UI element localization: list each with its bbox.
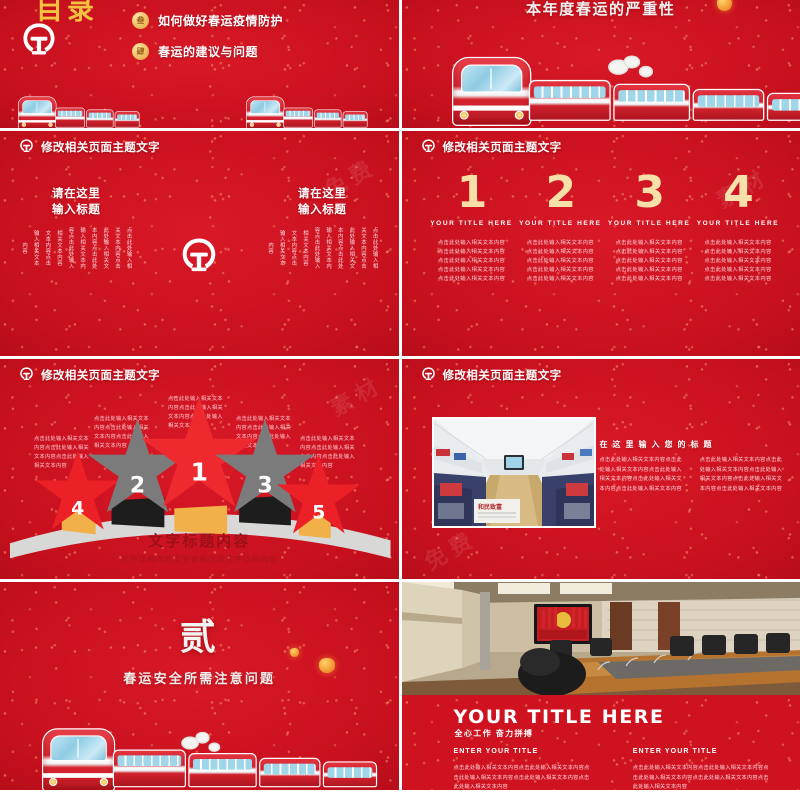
bg-speckles bbox=[402, 0, 800, 128]
vertical-text-column: 输入相关文本 bbox=[278, 227, 286, 269]
vertical-text-column: 点击此处输入相 bbox=[370, 227, 378, 269]
vertical-text-column: 关文本内容点击 bbox=[359, 227, 367, 269]
cartoon-train-icon bbox=[402, 36, 800, 128]
deck-row-4: 贰 春运安全所需注意问题 bbox=[0, 582, 800, 790]
vertical-text-column: 此处输入相关文 bbox=[347, 227, 355, 269]
vertical-text-column: 相关文本内容 bbox=[55, 227, 63, 269]
china-railway-logo-icon bbox=[420, 138, 437, 155]
vertical-text-columns: 点击此处输入相 关文本内容点击 此处输入相关文 本内容点击此处 输入相关文本内 … bbox=[13, 227, 139, 269]
slide-header-title: 修改相关页面主题文字 bbox=[41, 139, 160, 155]
toc-badge-icon: 肆 bbox=[132, 43, 149, 60]
numbered-item[interactable]: 2 YOUR TITLE HERE 点击此处输入相关文本内容 点击此处输入相关文… bbox=[516, 173, 604, 284]
vertical-text-column: 关文本内容点击 bbox=[113, 227, 121, 269]
section-subtitle: 春运安全所需注意问题 bbox=[0, 668, 399, 687]
group-title: 请在这里 输入标题 bbox=[13, 187, 139, 218]
vertical-text-column: 点击此处输入相 bbox=[124, 227, 132, 269]
text-column: ENTER YOUR TITLE 点击此处输入相关文本内容点击此处输入相关文本内… bbox=[633, 748, 774, 790]
slide-four-numbers[interactable]: 素材 修改相关页面主题文字 1 YOUR TITLE HERE 点击此处输入相关… bbox=[402, 131, 800, 356]
slide-header: 修改相关页面主题文字 bbox=[420, 366, 562, 383]
vertical-text-column: 相关文本内容 bbox=[301, 227, 309, 269]
slide-header: 修改相关页面主题文字 bbox=[18, 138, 160, 155]
item-body: 点击此处输入相关文本内容 点击此处输入相关文本内容 点击此处输入相关文本内容 点… bbox=[516, 239, 604, 285]
china-railway-logo-icon bbox=[177, 235, 221, 279]
vertical-text-column: 本内容点击此处 bbox=[336, 227, 344, 269]
vertical-text-column: 文本内容点击 bbox=[43, 227, 51, 269]
watermark: 免费 bbox=[417, 521, 482, 577]
svg-text:4: 4 bbox=[71, 497, 84, 519]
vertical-text-column: 输入相关文本内 bbox=[78, 227, 86, 269]
text-column-left: 点击此处输入相关文本内容点击此处输入相关文本内容点击此处输入相关文本内容点击此处… bbox=[600, 456, 686, 495]
vertical-text-columns: 点击此处输入相 关文本内容点击 此处输入相关文 本内容点击此处 输入相关文本内 … bbox=[259, 227, 385, 269]
vertical-text-column: 文本内容点击 bbox=[289, 227, 297, 269]
vertical-text-column: 此处输入相关文 bbox=[101, 227, 109, 269]
svg-text:2: 2 bbox=[130, 473, 145, 498]
conference-room-photo bbox=[402, 582, 800, 695]
deck-row-3: 素材 修改相关页面主题文字 点击此处输入相关文本内容点击此处输入相关文本内容点击… bbox=[0, 359, 800, 579]
svg-text:1: 1 bbox=[191, 458, 208, 487]
item-number: 1 bbox=[428, 173, 516, 213]
slide-star-podium[interactable]: 素材 修改相关页面主题文字 点击此处输入相关文本内容点击此处输入相关文本内容点击… bbox=[0, 359, 399, 579]
slide-contents[interactable]: 目录 叁 如何做好春运疫情防护 肆 春运的建议与问题 bbox=[0, 0, 399, 128]
slide-deck-grid: 目录 叁 如何做好春运疫情防护 肆 春运的建议与问题 bbox=[0, 0, 800, 800]
toc-list: 叁 如何做好春运疫情防护 肆 春运的建议与问题 bbox=[132, 12, 283, 74]
text-column: ENTER YOUR TITLE 点击此处输入相关文本内容点击此处输入相关文本内… bbox=[454, 748, 595, 790]
column-body: 点击此处输入相关文本内容点击此处输入相关文本内容点击此处输入相关文本内容点击此处… bbox=[633, 764, 774, 790]
china-railway-logo-icon bbox=[420, 366, 437, 383]
slide-conference[interactable]: YOUR TITLE HERE 全心工作 奋力拼搏 ENTER YOUR TIT… bbox=[402, 582, 800, 790]
slide-photo-text[interactable]: 免费 修改相关页面主题文字 bbox=[402, 359, 800, 579]
toc-item-label: 如何做好春运疫情防护 bbox=[158, 12, 283, 29]
deck-row-1: 目录 叁 如何做好春运疫情防护 肆 春运的建议与问题 bbox=[0, 0, 800, 128]
slide-header: 修改相关页面主题文字 bbox=[18, 366, 160, 383]
section-number: 贰 bbox=[0, 608, 399, 660]
item-title: YOUR TITLE HERE bbox=[605, 220, 693, 227]
group-title: 请在这里 输入标题 bbox=[259, 187, 385, 218]
slide-header-title: 修改相关页面主题文字 bbox=[443, 367, 562, 383]
vertical-text-column: 输入相关文本内 bbox=[324, 227, 332, 269]
slide-header: 修改相关页面主题文字 bbox=[420, 138, 562, 155]
train-interior-photo: 和民致富 bbox=[432, 417, 596, 528]
text-group-right: 请在这里 输入标题 点击此处输入相 关文本内容点击 此处输入相关文 本内容点击此… bbox=[259, 187, 385, 269]
cartoon-train-icon bbox=[0, 704, 399, 790]
toc-badge-icon: 叁 bbox=[132, 12, 149, 29]
vertical-text-column: 容点击此处输入 bbox=[312, 227, 320, 269]
page-title: 本年度春运的严重性 bbox=[402, 0, 800, 19]
page-title: YOUR TITLE HERE bbox=[454, 706, 665, 728]
item-title: YOUR TITLE HERE bbox=[694, 220, 782, 227]
text-column-right: 点击此处输入相关文本内容点击此处输入相关文本内容点击此处输入相关文本内容点击此处… bbox=[700, 456, 786, 495]
deck-row-2: 免费 修改相关页面主题文字 请在这里 输入标题 点击此处输 bbox=[0, 131, 800, 356]
content-columns: 请在这里 输入标题 点击此处输入相 关文本内容点击 此处输入相关文 本内容点击此… bbox=[0, 187, 399, 279]
china-railway-logo-icon bbox=[18, 366, 35, 383]
numbered-items-row: 1 YOUR TITLE HERE 点击此处输入相关文本内容 点击此处输入相关文… bbox=[428, 173, 783, 284]
text-columns: ENTER YOUR TITLE 点击此处输入相关文本内容点击此处输入相关文本内… bbox=[454, 748, 775, 790]
page-subtitle: 全心工作 奋力拼搏 bbox=[455, 728, 534, 739]
slide-two-column-text[interactable]: 免费 修改相关页面主题文字 请在这里 输入标题 点击此处输 bbox=[0, 131, 399, 356]
bg-vignette bbox=[402, 0, 800, 128]
slide-header-title: 修改相关页面主题文字 bbox=[41, 367, 160, 383]
svg-text:3: 3 bbox=[257, 473, 272, 498]
item-number: 3 bbox=[605, 173, 693, 213]
toc-item-label: 春运的建议与问题 bbox=[158, 43, 258, 60]
toc-item-4[interactable]: 肆 春运的建议与问题 bbox=[132, 43, 283, 60]
svg-text:和民致富: 和民致富 bbox=[477, 503, 502, 511]
slide-severity[interactable]: 本年度春运的严重性 bbox=[402, 0, 800, 128]
vertical-text-column: 本内容点击此处 bbox=[90, 227, 98, 269]
svg-text:5: 5 bbox=[312, 501, 325, 523]
bottom-title: 文字标题内容 bbox=[0, 530, 399, 551]
item-number: 4 bbox=[694, 173, 782, 213]
column-title: ENTER YOUR TITLE bbox=[454, 748, 595, 755]
right-title: 在这里输入您的标题 bbox=[600, 439, 717, 450]
column-body: 点击此处输入相关文本内容点击此处输入相关文本内容点击此处输入相关文本内容点击此处… bbox=[454, 764, 595, 790]
item-number: 2 bbox=[516, 173, 604, 213]
vertical-text-column: 内容 bbox=[20, 227, 28, 269]
item-body: 点击此处输入相关文本内容 点击此处输入相关文本内容 点击此处输入相关文本内容 点… bbox=[694, 239, 782, 285]
slide-header-title: 修改相关页面主题文字 bbox=[443, 139, 562, 155]
slide-section-two[interactable]: 贰 春运安全所需注意问题 bbox=[0, 582, 399, 790]
item-body: 点击此处输入相关文本内容 点击此处输入相关文本内容 点击此处输入相关文本内容 点… bbox=[428, 239, 516, 285]
item-body: 点击此处输入相关文本内容 点击此处输入相关文本内容 点击此处输入相关文本内容 点… bbox=[605, 239, 693, 285]
item-title: YOUR TITLE HERE bbox=[428, 220, 516, 227]
item-title: YOUR TITLE HERE bbox=[516, 220, 604, 227]
numbered-item[interactable]: 3 YOUR TITLE HERE 点击此处输入相关文本内容 点击此处输入相关文… bbox=[605, 173, 693, 284]
text-group-left: 请在这里 输入标题 点击此处输入相 关文本内容点击 此处输入相关文 本内容点击此… bbox=[13, 187, 139, 269]
bottom-subtitle: 文字详细内容文字详细内容文字详细内容 bbox=[0, 554, 399, 565]
vertical-text-column: 内容 bbox=[266, 227, 274, 269]
text-columns: 点击此处输入相关文本内容点击此处输入相关文本内容点击此处输入相关文本内容点击此处… bbox=[600, 456, 787, 495]
toc-item-3[interactable]: 叁 如何做好春运疫情防护 bbox=[132, 12, 283, 29]
numbered-item[interactable]: 1 YOUR TITLE HERE 点击此处输入相关文本内容 点击此处输入相关文… bbox=[428, 173, 516, 284]
column-title: ENTER YOUR TITLE bbox=[633, 748, 774, 755]
china-railway-logo-icon bbox=[18, 138, 35, 155]
vertical-text-column: 容点击此处输入 bbox=[66, 227, 74, 269]
numbered-item[interactable]: 4 YOUR TITLE HERE 点击此处输入相关文本内容 点击此处输入相关文… bbox=[694, 173, 782, 284]
china-railway-logo-icon bbox=[18, 20, 60, 62]
vertical-text-column: 输入相关文本 bbox=[32, 227, 40, 269]
